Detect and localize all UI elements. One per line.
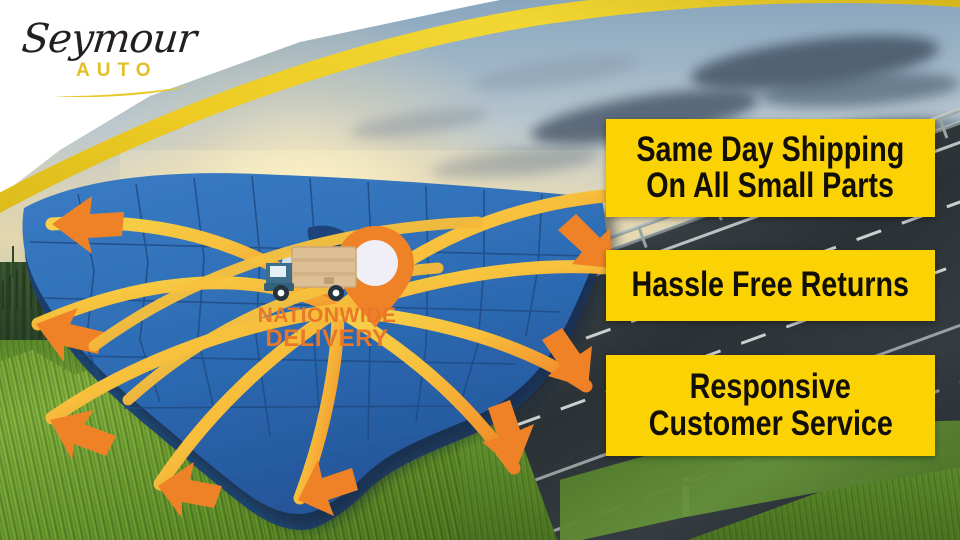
claim-line: Same Day Shipping: [637, 132, 905, 168]
claim-line: Hassle Free Returns: [632, 267, 910, 303]
brand-name-script: Seymour: [20, 16, 198, 62]
nationwide-line-2: DELIVERY: [252, 327, 402, 352]
promotional-banner: Seymour AUTO: [0, 0, 960, 540]
logo-swoosh-icon: [50, 86, 190, 98]
brand-logo: Seymour AUTO: [22, 16, 212, 100]
claim-line: On All Small Parts: [647, 168, 895, 204]
claim-box-hassle-free-returns: Hassle Free Returns: [606, 250, 935, 321]
brand-name-sub: AUTO: [76, 60, 157, 82]
claim-line: Responsive: [690, 369, 851, 405]
nationwide-line-1: NATIONWIDE: [252, 305, 402, 327]
delivery-truck-icon: [262, 243, 362, 305]
claim-line: Customer Service: [648, 406, 892, 442]
claim-box-responsive-customer-service: Responsive Customer Service: [606, 355, 935, 456]
nationwide-delivery-label: NATIONWIDE DELIVERY: [252, 305, 402, 352]
claim-box-same-day-shipping: Same Day Shipping On All Small Parts: [606, 119, 935, 217]
